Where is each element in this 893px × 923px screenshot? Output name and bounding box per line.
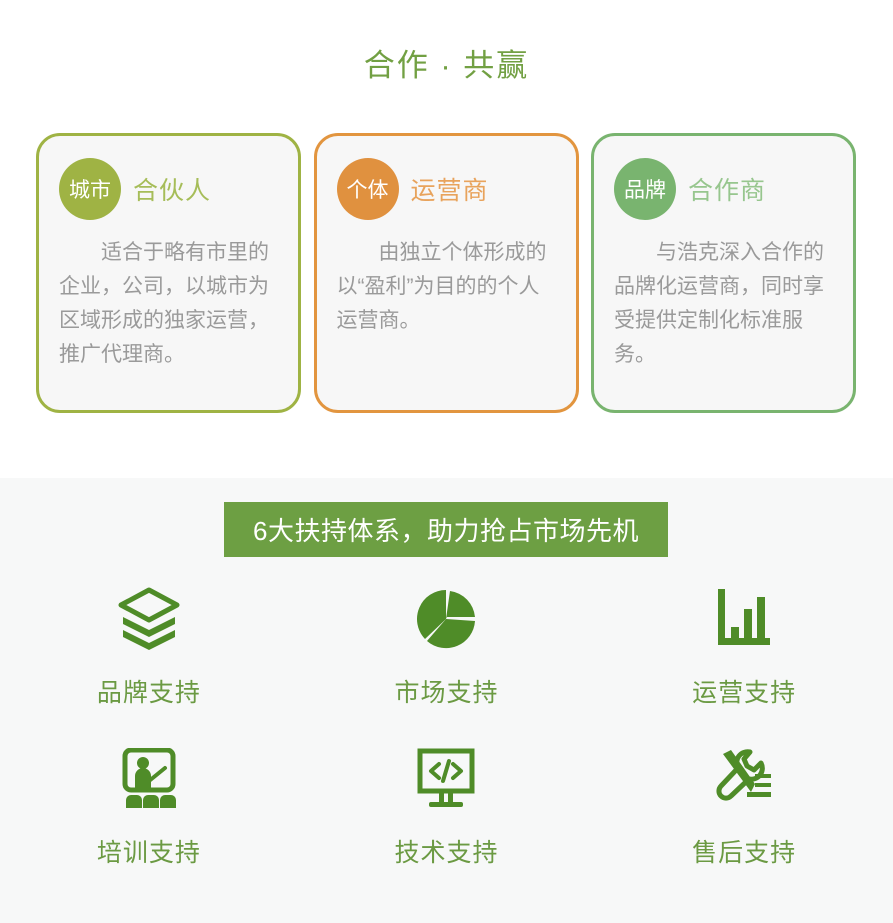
feature-technical-support[interactable]: 技术支持 [298,743,596,903]
page-title: 合作 · 共赢 [0,46,893,86]
feature-aftersales-support[interactable]: 售后支持 [595,743,893,903]
card-header: 城市 合伙人 [59,158,278,220]
card-description: 适合于略有市里的企业，公司，以城市为区域形成的独家运营，推广代理商。 [59,236,278,372]
layers-icon [115,583,183,655]
feature-operation-support[interactable]: 运营支持 [595,583,893,743]
feature-label: 品牌支持 [97,673,201,709]
partner-card-individual[interactable]: 个体 运营商 由独立个体形成的以“盈利”为目的的个人运营商。 [314,133,579,413]
card-badge: 城市 [59,158,121,220]
partner-cards-row: 城市 合伙人 适合于略有市里的企业，公司，以城市为区域形成的独家运营，推广代理商… [36,133,856,413]
training-icon [116,743,182,815]
feature-label: 培训支持 [97,833,201,869]
card-header: 个体 运营商 [337,158,556,220]
pie-chart-icon [414,583,478,655]
feature-market-support[interactable]: 市场支持 [298,583,596,743]
code-monitor-icon [415,743,477,815]
card-header: 品牌 合作商 [614,158,833,220]
bar-chart-icon [713,583,775,655]
support-banner-text: 6大扶持体系，助力抢占市场先机 [253,511,639,548]
card-description: 由独立个体形成的以“盈利”为目的的个人运营商。 [337,236,556,338]
promo-page: 合作 · 共赢 城市 合伙人 适合于略有市里的企业，公司，以城市为区域形成的独家… [0,0,893,923]
partner-card-brand[interactable]: 品牌 合作商 与浩克深入合作的品牌化运营商，同时享受提供定制化标准服务。 [591,133,856,413]
tools-icon [711,743,777,815]
card-badge: 个体 [337,158,399,220]
feature-label: 技术支持 [394,833,498,869]
partner-types-section: 合作 · 共赢 城市 合伙人 适合于略有市里的企业，公司，以城市为区域形成的独家… [0,0,893,478]
card-badge: 品牌 [614,158,676,220]
partner-card-city[interactable]: 城市 合伙人 适合于略有市里的企业，公司，以城市为区域形成的独家运营，推广代理商… [36,133,301,413]
feature-training-support[interactable]: 培训支持 [0,743,298,903]
support-features-grid: 品牌支持 市场支持 [0,583,893,903]
card-title: 运营商 [411,171,489,207]
support-banner: 6大扶持体系，助力抢占市场先机 [224,502,668,557]
feature-label: 市场支持 [394,673,498,709]
card-description: 与浩克深入合作的品牌化运营商，同时享受提供定制化标准服务。 [614,236,833,372]
feature-brand-support[interactable]: 品牌支持 [0,583,298,743]
card-title: 合作商 [688,171,766,207]
card-title: 合伙人 [133,171,211,207]
support-system-section: 6大扶持体系，助力抢占市场先机 品牌支持 [0,478,893,923]
feature-label: 运营支持 [692,673,796,709]
feature-label: 售后支持 [692,833,796,869]
